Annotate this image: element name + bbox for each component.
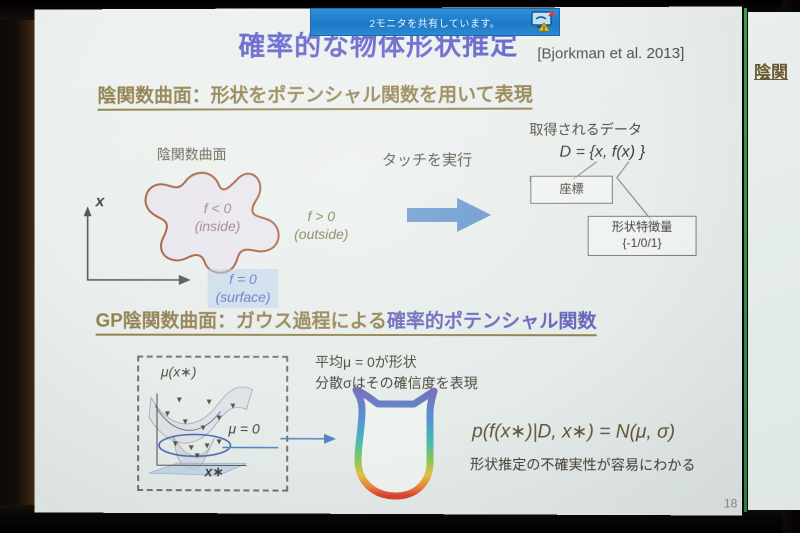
callout-shape-feature: 形状特徴量 {-1/0/1}: [588, 216, 697, 256]
uncertainty-contour-icon: [332, 386, 462, 512]
slide-divider-line: [744, 8, 747, 512]
next-slide-preview: 陰関: [748, 12, 800, 510]
gp-zero-arrow-icon: [280, 432, 338, 446]
acquired-data-label: 取得されるデータ: [529, 119, 642, 139]
gp-posterior-formula: p(f(x∗)|D, x∗) = N(μ, σ): [472, 420, 675, 444]
callout-coordinate: 座標: [530, 176, 613, 204]
inside-region-label: f < 0 (inside): [195, 200, 241, 235]
citation: [Bjorkman et al. 2013]: [537, 45, 684, 63]
page-number: 18: [724, 496, 738, 510]
gp-mean-zero-label: μ = 0: [228, 421, 259, 437]
gp-x-star-label: x∗: [205, 463, 224, 480]
monitor-share-icon[interactable]: [531, 11, 555, 31]
projector-screenshot: 陰関 確率的な物体形状推定 [Bjorkman et al. 2013] 陰関数…: [0, 0, 800, 533]
outside-region-label: f > 0 (outside): [294, 208, 348, 243]
next-slide-title: 陰関: [754, 58, 788, 83]
right-arrow-icon: [407, 198, 491, 232]
screen-share-banner[interactable]: 2モニタを共有しています。: [310, 8, 560, 36]
presentation-slide: 確率的な物体形状推定 [Bjorkman et al. 2013] 陰関数曲面：…: [34, 6, 742, 515]
surface-region-label: f = 0 (surface): [208, 269, 279, 308]
section-heading-gp-implicit-surface: GP陰関数曲面：ガウス過程による確率的ポテンシャル関数: [96, 306, 597, 337]
section-heading-implicit-surface: 陰関数曲面：形状をポテンシャル関数を用いて表現: [98, 80, 533, 111]
screen-share-text: 2モニタを共有しています。: [370, 15, 501, 30]
touch-action-label: タッチを実行: [382, 149, 472, 170]
gp-conclusion-note: 形状推定の不確実性が容易にわかる: [470, 454, 695, 475]
gp-mean-label: μ(x∗): [161, 364, 196, 381]
